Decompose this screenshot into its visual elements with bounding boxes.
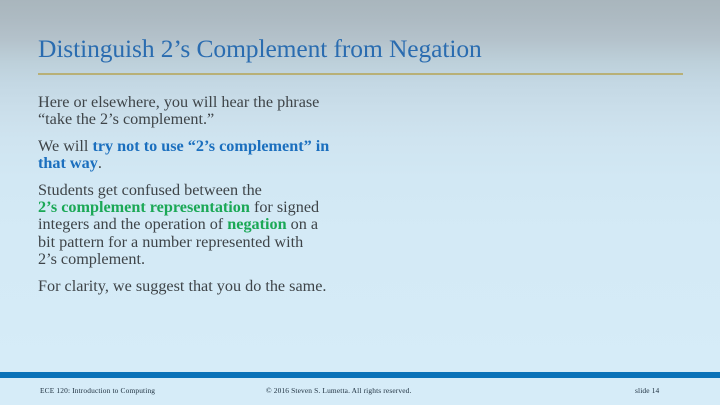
title-underline-rule	[38, 73, 683, 75]
para3-line1: Students get confused between the	[38, 181, 262, 199]
para1-line2: “take the 2’s complement.”	[38, 110, 214, 128]
slide-canvas: Distinguish 2’s Complement from Negation…	[0, 0, 720, 405]
para2-lead: We will	[38, 137, 92, 155]
para2-emphasis-1: try not to use “2’s complement” in	[92, 137, 329, 155]
body-paragraph-1: Here or elsewhere, you will hear the phr…	[38, 94, 678, 129]
para3-mid2: on a	[287, 215, 318, 233]
para3-line4: 2’s complement.	[38, 250, 145, 268]
slide-body: Here or elsewhere, you will hear the phr…	[38, 94, 678, 295]
para3-emphasis-1: 2’s complement representation	[38, 198, 250, 216]
para3-line2: integers and the operation of	[38, 215, 227, 233]
para2-emphasis-2: that way	[38, 154, 98, 172]
para1-line1: Here or elsewhere, you will hear the phr…	[38, 93, 319, 111]
footer-course-label: ECE 120: Introduction to Computing	[40, 386, 155, 395]
footer-copyright-label: © 2016 Steven S. Lumetta. All rights res…	[266, 386, 412, 395]
para3-mid1: for signed	[250, 198, 319, 216]
para2-tail: .	[98, 154, 102, 172]
footer-divider-bar	[0, 372, 720, 378]
para3-line3: bit pattern for a number represented wit…	[38, 233, 303, 251]
para4-line1: For clarity, we suggest that you do the …	[38, 277, 326, 295]
footer-slide-number: slide 14	[635, 386, 659, 395]
body-paragraph-4: For clarity, we suggest that you do the …	[38, 278, 678, 295]
body-paragraph-2: We will try not to use “2’s complement” …	[38, 138, 678, 173]
slide-title: Distinguish 2’s Complement from Negation	[38, 34, 686, 64]
body-paragraph-3: Students get confused between the2’s com…	[38, 182, 678, 269]
para3-emphasis-2: negation	[227, 215, 286, 233]
